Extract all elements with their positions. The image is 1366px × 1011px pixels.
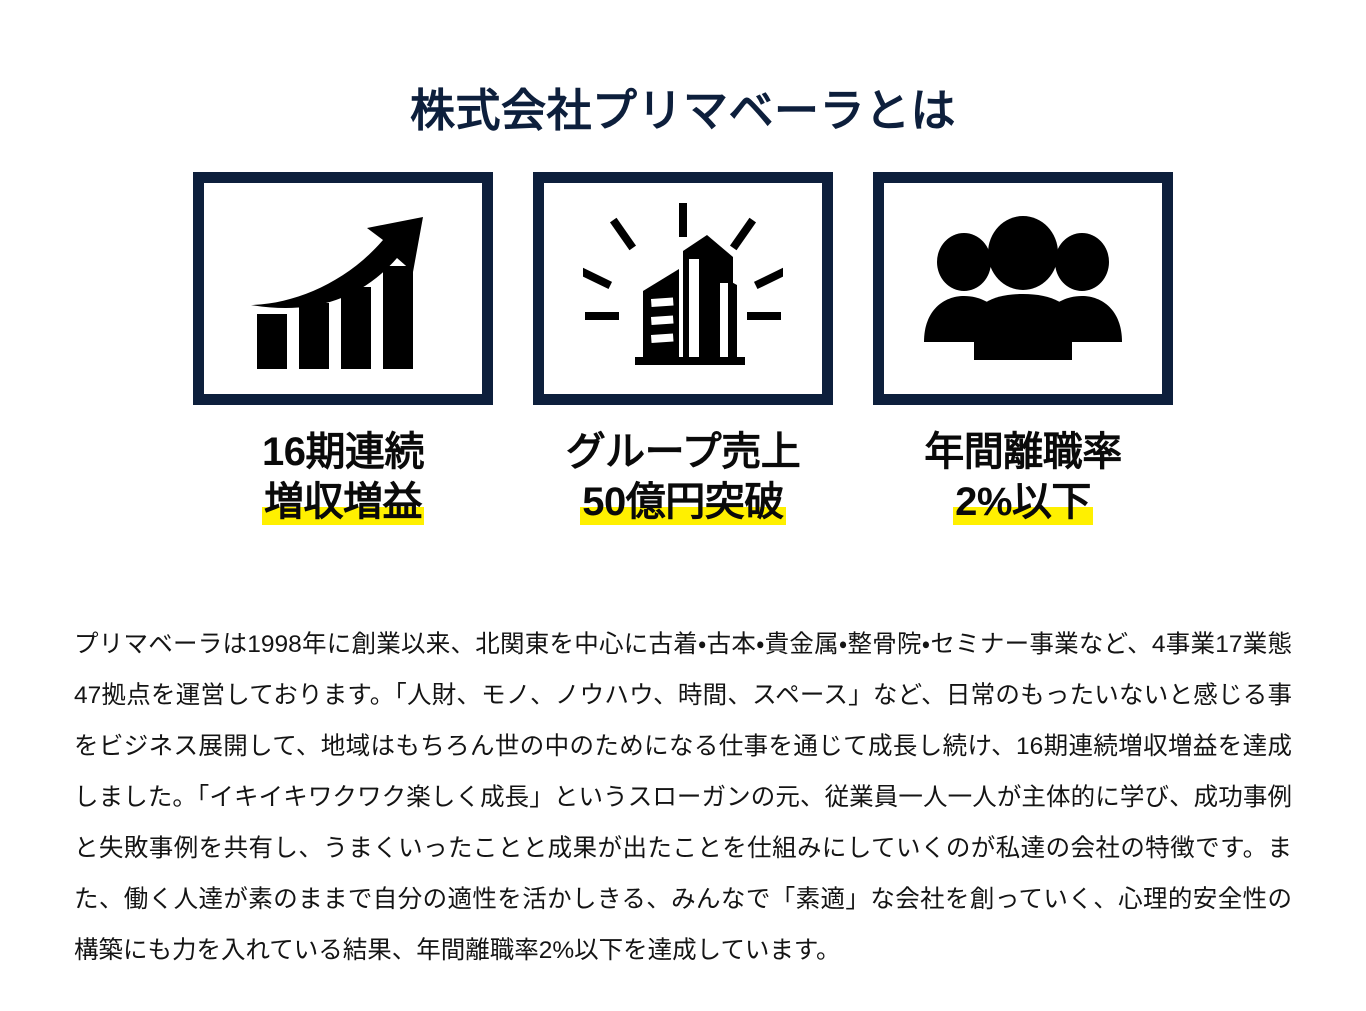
stat-card-growth: 16期連続 増収増益: [193, 172, 493, 527]
stat-caption-line2: 増収増益: [262, 477, 424, 527]
icon-frame-revenue: [533, 172, 833, 405]
stat-caption-growth: 16期連続 増収増益: [262, 427, 424, 527]
stat-caption-line1: 年間離職率: [924, 427, 1122, 477]
stat-card-turnover: 年間離職率 2%以下: [873, 172, 1173, 527]
stat-caption-line2-text: 50億円突破: [580, 477, 786, 527]
stat-caption-revenue: グループ売上 50億円突破: [566, 427, 801, 527]
stat-card-revenue: グループ売上 50億円突破: [533, 172, 833, 527]
icon-frame-turnover: [873, 172, 1173, 405]
stat-caption-line1: グループ売上: [566, 427, 801, 477]
growth-bar-chart-arrow-icon: [243, 204, 443, 374]
company-description-paragraph: プリマベーラは1998年に創業以来、北関東を中心に古着・古本・貴金属・整骨院・セ…: [74, 619, 1292, 976]
stat-caption-line2: 2%以下: [924, 477, 1122, 527]
stat-caption-turnover: 年間離職率 2%以下: [924, 427, 1122, 527]
stat-caption-line2-text: 増収増益: [262, 477, 424, 527]
icon-frame-growth: [193, 172, 493, 405]
stats-card-row: 16期連続 増収増益: [0, 172, 1366, 527]
stat-caption-line2: 50億円突破: [566, 477, 801, 527]
stat-caption-line2-text: 2%以下: [953, 477, 1093, 527]
slide-root: 株式会社プリマベーラとは 16: [0, 0, 1366, 1011]
shining-buildings-icon: [583, 199, 783, 379]
page-title: 株式会社プリマベーラとは: [0, 82, 1366, 140]
stat-caption-line1: 16期連続: [262, 427, 424, 477]
group-of-people-icon: [918, 214, 1128, 364]
